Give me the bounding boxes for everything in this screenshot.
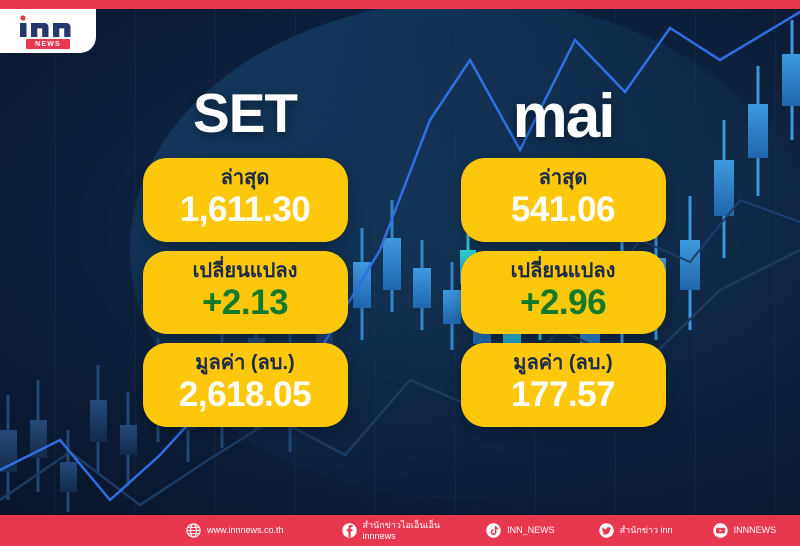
mai-change-label: เปลี่ยนแปลง bbox=[469, 260, 658, 283]
set-change-label: เปลี่ยนแปลง bbox=[151, 260, 340, 283]
mai-latest-card: ล่าสุด 541.06 bbox=[461, 158, 666, 242]
footer-website-text: www.innnews.co.th bbox=[207, 525, 284, 535]
mai-latest-label: ล่าสุด bbox=[469, 167, 658, 190]
footer-website[interactable]: www.innnews.co.th bbox=[186, 523, 284, 538]
footer-youtube-text: INNNEWS bbox=[734, 525, 777, 535]
tiktok-icon bbox=[486, 523, 501, 538]
footer-twitter-text: สำนักข่าว inn bbox=[620, 525, 673, 535]
index-block-mai: mai ล่าสุด 541.06 เปลี่ยนแปลง +2.96 มูลค… bbox=[448, 86, 678, 436]
set-value-value: 2,618.05 bbox=[151, 376, 340, 415]
footer-facebook-line1: สำนักข่าวไอเอ็นเอ็น bbox=[363, 520, 441, 530]
inn-wordmark-icon bbox=[17, 15, 79, 37]
footer-facebook-text: สำนักข่าวไอเอ็นเอ็น innnews bbox=[363, 520, 441, 541]
index-block-set: SET ล่าสุด 1,611.30 เปลี่ยนแปลง +2.13 มู… bbox=[130, 86, 360, 436]
mai-change-value: +2.96 bbox=[469, 284, 658, 323]
mai-value-label: มูลค่า (ลบ.) bbox=[469, 352, 658, 375]
set-change-value: +2.13 bbox=[151, 284, 340, 323]
set-change-card: เปลี่ยนแปลง +2.13 bbox=[143, 251, 348, 335]
footer-facebook[interactable]: สำนักข่าวไอเอ็นเอ็น innnews bbox=[342, 520, 441, 541]
background-chart bbox=[0, 0, 800, 546]
mai-latest-value: 541.06 bbox=[469, 191, 658, 230]
mai-change-card: เปลี่ยนแปลง +2.96 bbox=[461, 251, 666, 335]
set-latest-card: ล่าสุด 1,611.30 bbox=[143, 158, 348, 242]
twitter-icon bbox=[599, 523, 614, 538]
set-value-card: มูลค่า (ลบ.) 2,618.05 bbox=[143, 343, 348, 427]
set-value-label: มูลค่า (ลบ.) bbox=[151, 352, 340, 375]
index-name-mai: mai bbox=[513, 86, 614, 148]
mai-value-value: 177.57 bbox=[469, 376, 658, 415]
youtube-icon bbox=[713, 523, 728, 538]
footer-facebook-line2: innnews bbox=[363, 531, 441, 541]
social-footer-bar: www.innnews.co.th สำนักข่าวไอเอ็นเอ็น in… bbox=[0, 515, 800, 546]
inn-news-stock-summary-graphic: NEWS SET ล่าสุด 1,611.30 เปลี่ยนแปลง +2.… bbox=[0, 0, 800, 546]
footer-tiktok[interactable]: INN_NEWS bbox=[486, 523, 555, 538]
facebook-icon bbox=[342, 523, 357, 538]
globe-icon bbox=[186, 523, 201, 538]
footer-tiktok-text: INN_NEWS bbox=[507, 525, 555, 535]
index-name-set: SET bbox=[193, 86, 297, 141]
inn-logo: NEWS bbox=[0, 9, 96, 53]
set-latest-label: ล่าสุด bbox=[151, 167, 340, 190]
inn-logo-badge: NEWS bbox=[26, 39, 70, 49]
mai-value-card: มูลค่า (ลบ.) 177.57 bbox=[461, 343, 666, 427]
footer-youtube[interactable]: INNNEWS bbox=[713, 523, 777, 538]
set-latest-value: 1,611.30 bbox=[151, 191, 340, 230]
top-accent-bar bbox=[0, 0, 800, 9]
footer-twitter[interactable]: สำนักข่าว inn bbox=[599, 523, 673, 538]
